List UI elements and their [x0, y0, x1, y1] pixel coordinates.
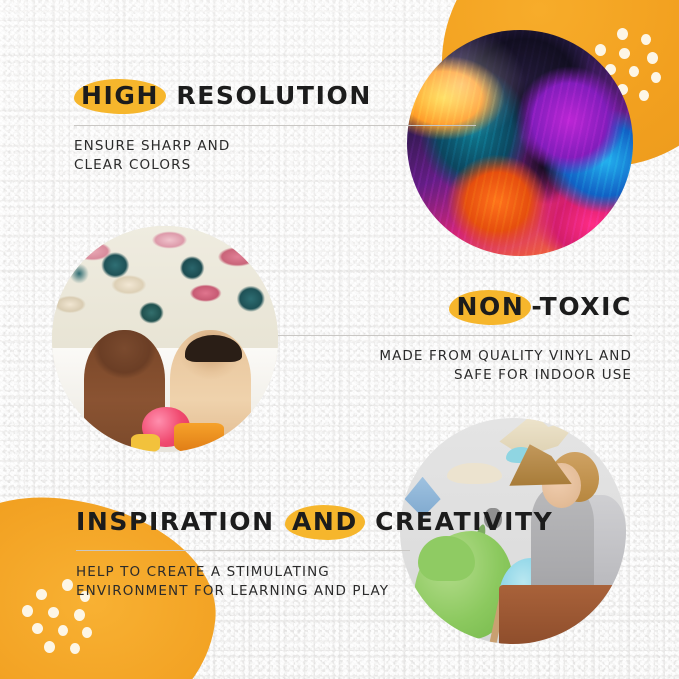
floral-wallpaper	[52, 226, 278, 366]
image-babies-floral-wallpaper	[52, 226, 278, 452]
headline-non-toxic: NON-TOXIC	[278, 293, 632, 321]
trex-head-decal	[418, 536, 475, 581]
section-high-resolution: HIGH RESOLUTION ENSURE SHARP AND CLEAR C…	[74, 82, 374, 175]
headline-rest-creativity: CREATIVITY	[375, 507, 553, 536]
headline-inspiration-creativity: INSPIRATION AND CREATIVITY	[76, 508, 410, 536]
headline-highlight-and: AND	[285, 508, 365, 536]
abstract-gloss-overlay	[407, 30, 633, 256]
toy-yellow-block	[131, 434, 160, 452]
image-abstract-fluid-art	[407, 30, 633, 256]
toy-orange-truck	[174, 423, 224, 452]
body-non-toxic: MADE FROM QUALITY VINYL AND SAFE FOR IND…	[278, 347, 632, 385]
body-high-resolution: ENSURE SHARP AND CLEAR COLORS	[74, 137, 374, 175]
headline-highlight-high: HIGH	[74, 82, 166, 110]
divider-inspiration-creativity	[76, 550, 410, 551]
headline-rest-resolution: RESOLUTION	[176, 81, 371, 110]
infographic-poster: HIGH RESOLUTION ENSURE SHARP AND CLEAR C…	[0, 0, 679, 679]
wooden-desk	[499, 585, 626, 644]
headline-highlight-non: NON	[449, 293, 531, 321]
divider-non-toxic	[278, 335, 632, 336]
section-inspiration-creativity: INSPIRATION AND CREATIVITY HELP TO CREAT…	[76, 508, 410, 601]
headline-high-resolution: HIGH RESOLUTION	[74, 82, 374, 110]
headline-pre-inspiration: INSPIRATION	[76, 507, 275, 536]
section-non-toxic: NON-TOXIC MADE FROM QUALITY VINYL AND SA…	[278, 293, 632, 385]
divider-high-resolution	[74, 125, 476, 126]
headline-rest-toxic: -TOXIC	[531, 292, 632, 321]
cloud-decal	[447, 463, 501, 483]
body-inspiration-creativity: HELP TO CREATE A STIMULATING ENVIRONMENT…	[76, 563, 410, 601]
